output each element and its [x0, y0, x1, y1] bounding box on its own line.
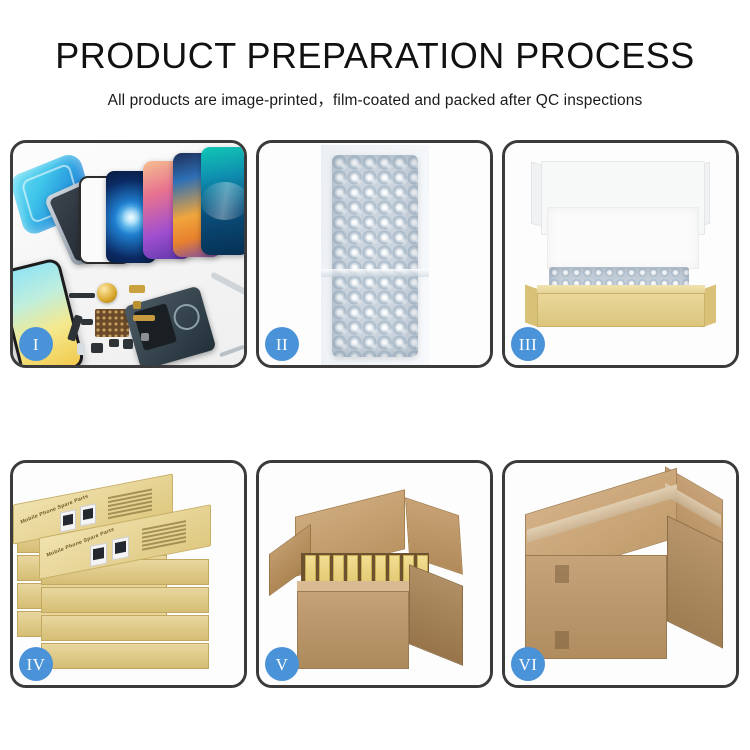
- chip-icon: [81, 319, 93, 325]
- page-subtitle: All products are image-printed，film-coat…: [0, 74, 750, 110]
- bubble-wrap-icon: [332, 155, 418, 357]
- carton-front-side: [525, 555, 667, 659]
- step-badge-iv: IV: [19, 647, 53, 681]
- spec-checklist: [142, 520, 186, 553]
- screw-tray-icon: [95, 309, 129, 337]
- carton-handle-notch-icon: [555, 565, 569, 583]
- carton-front-side: [297, 591, 409, 669]
- step-badge-v: V: [265, 647, 299, 681]
- gold-flex-icon: [133, 315, 155, 321]
- step-badge-i: I: [19, 327, 53, 361]
- step-badge-ii: II: [265, 327, 299, 361]
- stacked-box: [41, 643, 209, 669]
- step-panel-iii: III: [502, 140, 739, 368]
- header: PRODUCT PREPARATION PROCESS All products…: [0, 0, 750, 110]
- connector-small-icon: [133, 301, 141, 309]
- phone-image-print: [112, 536, 129, 560]
- copper-coil-icon: [97, 283, 117, 303]
- camera-module-icon: [123, 339, 133, 349]
- stacked-box: [41, 587, 209, 613]
- button-part-icon: [141, 333, 149, 341]
- step-panel-vi: VI: [502, 460, 739, 688]
- step-panel-ii: II: [256, 140, 493, 368]
- step-badge-vi: VI: [511, 647, 545, 681]
- phone-screen-teal-icon: [201, 147, 244, 255]
- flex-cable-icon: [69, 293, 95, 298]
- stacked-box: [41, 615, 209, 641]
- connector-icon: [129, 285, 145, 293]
- box-label-text: Mobile Phone Spare Parts: [20, 494, 89, 526]
- step-badge-iii: III: [511, 327, 545, 361]
- step-panel-iv: Mobile Phone Spare Parts Mobile Phone Sp…: [10, 460, 247, 688]
- page-title: PRODUCT PREPARATION PROCESS: [0, 0, 750, 74]
- speaker-icon: [109, 339, 119, 347]
- wrap-fold-icon: [321, 269, 429, 277]
- vibrator-icon: [91, 343, 103, 353]
- process-steps-grid: I II: [10, 140, 740, 690]
- carton-handle-notch-icon: [555, 631, 569, 649]
- box-front-icon: [537, 293, 705, 327]
- sim-tray-icon: [77, 343, 85, 355]
- step-panel-i: I: [10, 140, 247, 368]
- phone-image-print: [60, 509, 76, 532]
- foam-sheet-icon: [547, 207, 699, 269]
- step-panel-v: V: [256, 460, 493, 688]
- product-preparation-process-page: PRODUCT PREPARATION PROCESS All products…: [0, 0, 750, 750]
- phone-image-print: [90, 542, 107, 566]
- phone-image-print: [80, 503, 96, 526]
